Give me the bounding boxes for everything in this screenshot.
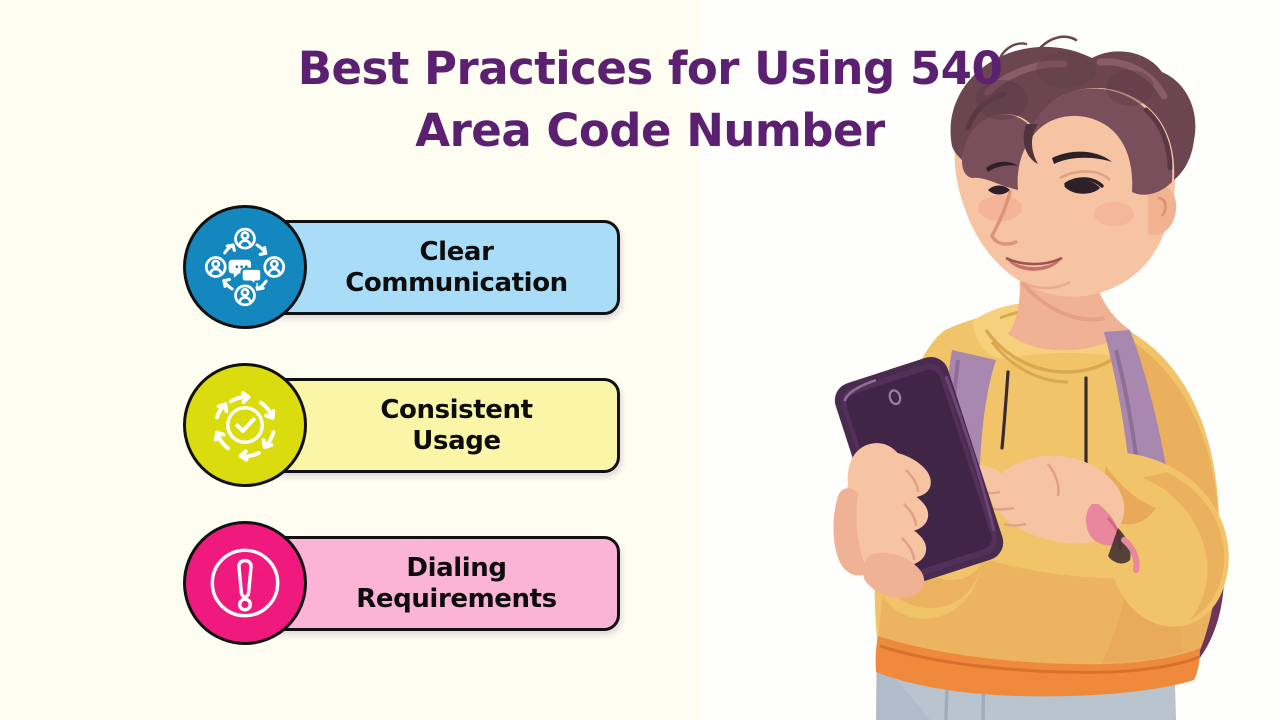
list-item[interactable]: Consistent Usage bbox=[183, 363, 633, 487]
infographic-root: Best Practices for Using 540 Area Code N… bbox=[0, 0, 1280, 720]
list-item[interactable]: Dialing Requirements bbox=[183, 521, 633, 645]
best-practices-list: Clear Communication bbox=[183, 205, 633, 645]
people-network-chat-icon bbox=[202, 224, 288, 310]
page-title-line-1: Best Practices for Using 540 bbox=[150, 38, 1150, 100]
page-title: Best Practices for Using 540 Area Code N… bbox=[150, 38, 1150, 162]
card-label-line-2: Usage bbox=[380, 426, 532, 456]
card-label: Consistent Usage bbox=[322, 395, 542, 455]
card-label-line-1: Clear bbox=[345, 237, 568, 267]
card-badge-dialing-requirements[interactable] bbox=[183, 521, 307, 645]
card-label: Dialing Requirements bbox=[298, 553, 566, 613]
card-label-line-2: Requirements bbox=[356, 584, 556, 614]
card-label-line-1: Consistent bbox=[380, 395, 532, 425]
card-label: Clear Communication bbox=[287, 237, 578, 297]
page-title-line-2: Area Code Number bbox=[150, 100, 1150, 162]
exclamation-circle-icon bbox=[202, 540, 288, 626]
card-badge-consistent-usage[interactable] bbox=[183, 363, 307, 487]
card-label-line-2: Communication bbox=[345, 268, 568, 298]
card-label-line-1: Dialing bbox=[356, 553, 556, 583]
list-item[interactable]: Clear Communication bbox=[183, 205, 633, 329]
circular-arrows-check-icon bbox=[202, 382, 288, 468]
card-badge-clear-communication[interactable] bbox=[183, 205, 307, 329]
